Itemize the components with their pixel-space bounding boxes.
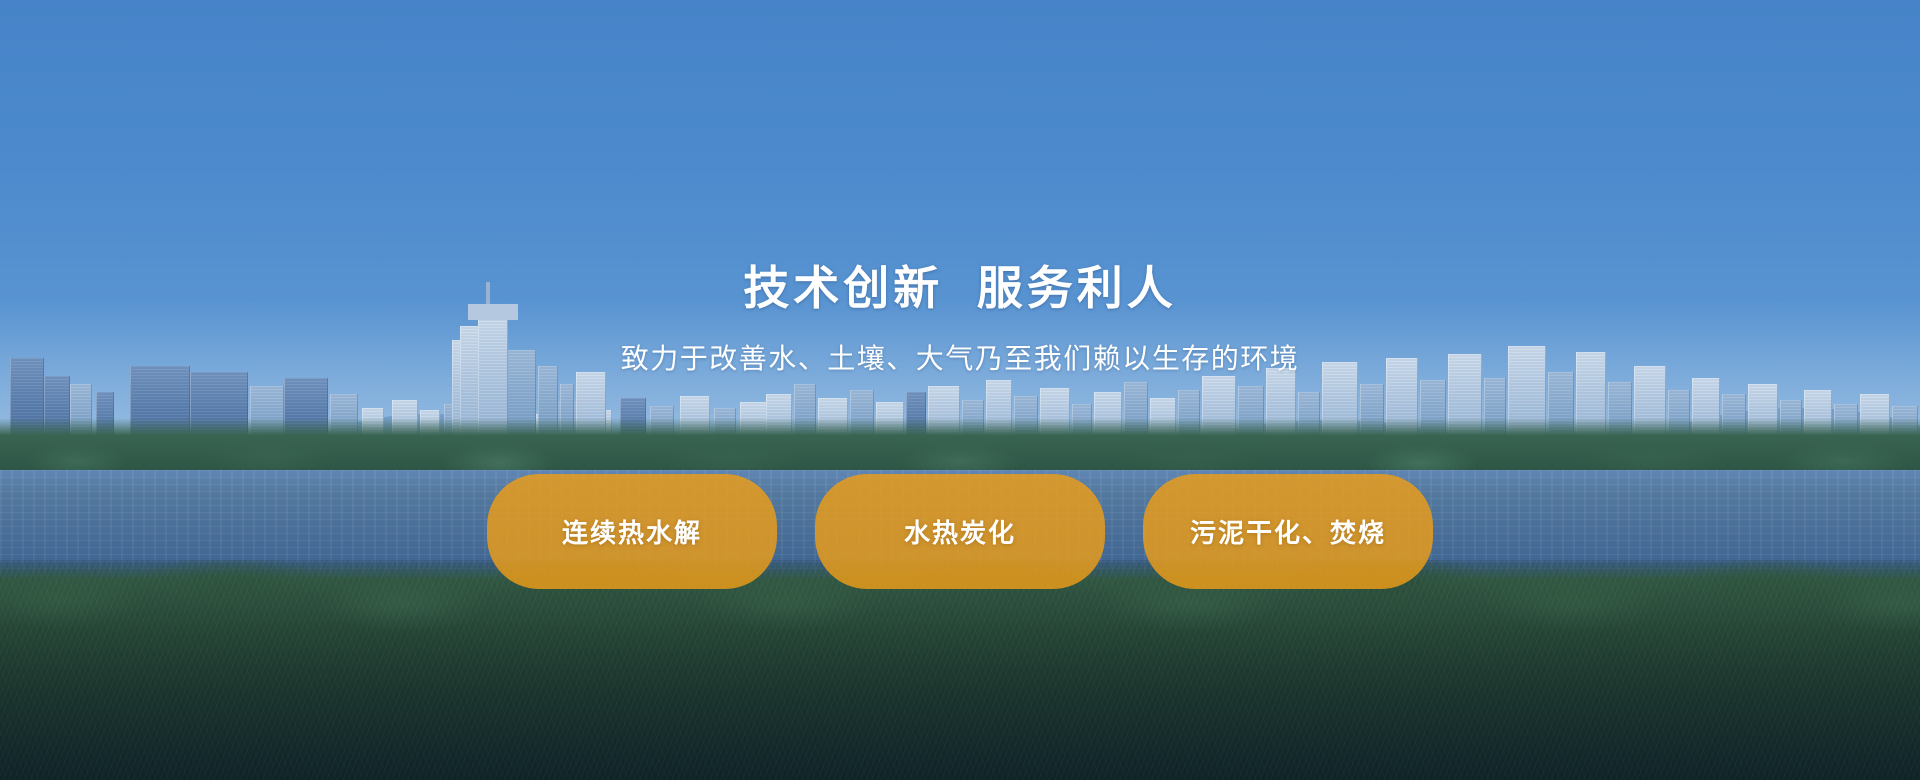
hero-banner: 技术创新 服务利人 致力于改善水、土壤、大气乃至我们赖以生存的环境 连续热水解 … — [0, 0, 1920, 780]
service-button-continuous-thermal-hydrolysis[interactable]: 连续热水解 — [487, 474, 777, 589]
page-subtitle: 致力于改善水、土壤、大气乃至我们赖以生存的环境 — [0, 345, 1920, 373]
foliage-shadow-cast — [0, 560, 1920, 780]
service-button-sludge-drying-incineration[interactable]: 污泥干化、焚烧 — [1143, 474, 1433, 589]
service-button-hydrothermal-carbonization[interactable]: 水热炭化 — [815, 474, 1105, 589]
service-button-label: 水热炭化 — [904, 513, 1016, 550]
mangrove-foreground — [0, 560, 1920, 780]
service-button-label: 污泥干化、焚烧 — [1190, 513, 1386, 550]
page-title: 技术创新 服务利人 — [0, 265, 1920, 311]
service-pill-row: 连续热水解 水热炭化 污泥干化、焚烧 — [0, 474, 1920, 589]
service-button-label: 连续热水解 — [562, 513, 702, 550]
